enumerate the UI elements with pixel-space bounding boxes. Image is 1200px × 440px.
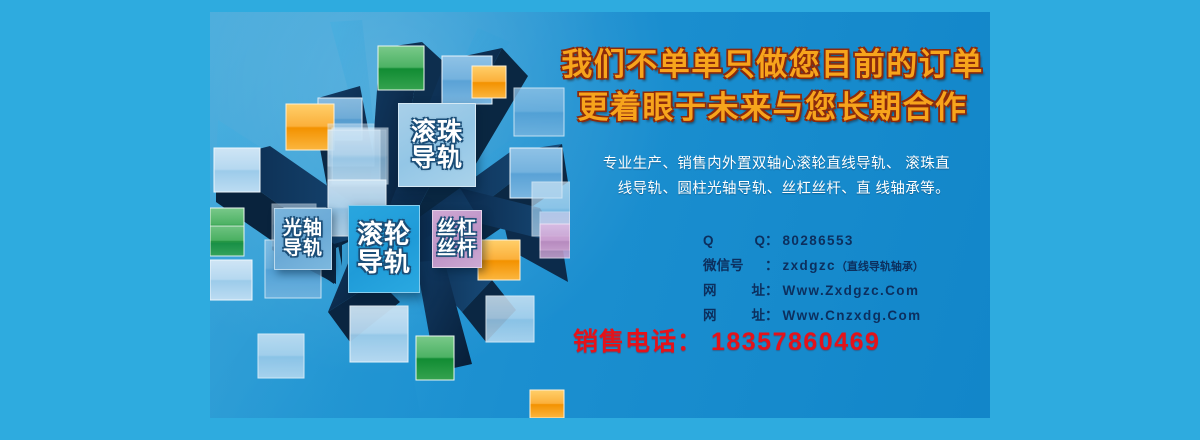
contact-row-wechat: 微信号 ： zxdgzc （直线导轨轴承） [703, 253, 990, 278]
contact-label-qq-b: Q [754, 228, 765, 253]
contact-label-qq: Q Q [703, 228, 765, 253]
headline-block: 我们不单单只做您目前的订单 更着眼于未来与您长期合作 [555, 44, 990, 130]
cube-label-line: 导轨 [283, 239, 323, 259]
contact-value-website-1[interactable]: Www.Zxdgzc.Com [783, 278, 920, 303]
contact-block: Q Q ： 80286553 微信号 ： zxdgzc （直线导轨轴承） 网 址 [703, 228, 990, 328]
contact-row-qq: Q Q ： 80286553 [703, 228, 990, 253]
contact-label-qq-a: Q [703, 228, 714, 253]
headline-line-2: 更着眼于未来与您长期合作 [555, 87, 990, 130]
contact-colon-qq: ： [765, 228, 779, 253]
cube-label-roller-rail: 滚轮 导轨 [348, 205, 420, 293]
description-line-3: 线轴承等。 [876, 181, 951, 197]
contact-value-qq: 80286553 [783, 228, 854, 253]
contact-label-website-1: 网 址 [703, 278, 765, 303]
cube-label-line: 滚轮 [357, 221, 411, 249]
cube-label-line: 导轨 [411, 145, 463, 172]
cube-label-screw-rod: 丝杠 丝杆 [432, 210, 482, 268]
contact-label-wechat: 微信号 [703, 253, 765, 278]
cube-label-line: 丝杆 [437, 239, 477, 259]
sales-phone-number: 18357860469 [711, 328, 880, 356]
contact-value-wechat: zxdgzc [783, 253, 836, 278]
contact-colon-wechat: ： [765, 253, 779, 278]
banner-inner-panel: 滚珠 导轨 光轴 导轨 滚轮 导轨 丝杠 丝杆 我们不单单只做您目前的订单 更着… [210, 12, 990, 418]
promo-banner: 滚珠 导轨 光轴 导轨 滚轮 导轨 丝杠 丝杆 我们不单单只做您目前的订单 更着… [0, 0, 1200, 440]
description-block: 专业生产、销售内外置双轴心滚轮直线导轨、 滚珠直线导轨、圆柱光轴导轨、丝杠丝杆、… [595, 152, 950, 202]
cube-label-ball-rail: 滚珠 导轨 [398, 103, 476, 187]
contact-note-wechat: （直线导轨轴承） [836, 257, 924, 277]
cube-label-line: 导轨 [357, 249, 411, 277]
cube-label-line: 滚珠 [411, 119, 463, 146]
cube-label-line: 丝杠 [437, 219, 477, 239]
contact-label-website-1-a: 网 [703, 278, 717, 303]
banner-copy-column: 我们不单单只做您目前的订单 更着眼于未来与您长期合作 专业生产、销售内外置双轴心… [555, 12, 990, 418]
sales-phone-label: 销售电话： [573, 328, 703, 356]
contact-row-website-1: 网 址 ： Www.Zxdgzc.Com [703, 278, 990, 303]
description-line-1: 专业生产、销售内外置双轴心滚轮直线导轨、 [603, 156, 901, 172]
headline-line-1: 我们不单单只做您目前的订单 [555, 44, 990, 87]
cube-label-shaft-rail: 光轴 导轨 [274, 208, 332, 270]
cube-label-line: 光轴 [283, 219, 323, 239]
contact-label-website-1-b: 址 [752, 278, 766, 303]
contact-colon-website-1: ： [765, 278, 779, 303]
sales-phone-block: 销售电话： 18357860469 [573, 322, 990, 358]
